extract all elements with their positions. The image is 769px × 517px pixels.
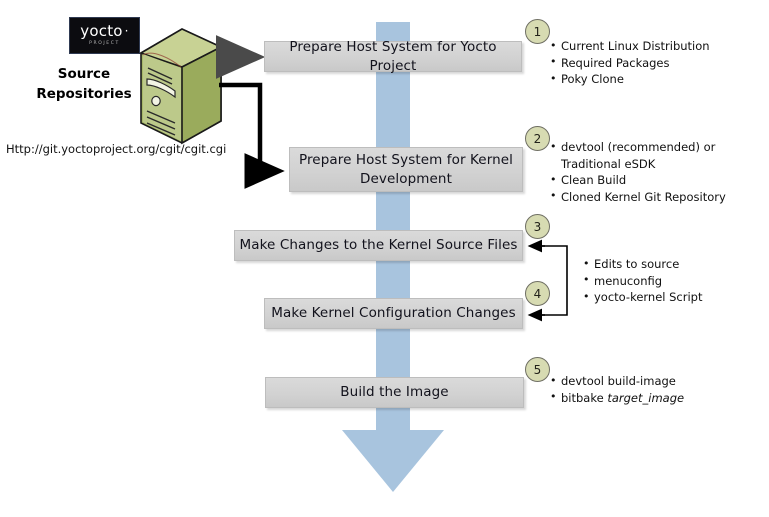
annotation-text: yocto-kernel Script: [594, 290, 703, 304]
process-box-2-line1: Prepare Host System for Kernel: [299, 152, 513, 168]
yocto-logo-dot: ·: [125, 24, 129, 38]
process-box-2-label: Prepare Host System for Kernel Developme…: [299, 151, 513, 189]
annotation-item: Cloned Kernel Git Repository: [549, 189, 761, 206]
annotation-text: Cloned Kernel Git Repository: [561, 190, 726, 204]
process-box-3-label: Make Changes to the Kernel Source Files: [239, 236, 517, 255]
step-number-1: 1: [534, 25, 542, 39]
annotation-text: menuconfig: [594, 274, 662, 288]
annotation-text-continuation: Traditional eSDK: [561, 156, 761, 173]
diagram-canvas: yocto· PROJECT Source Repositories Http:…: [0, 0, 769, 517]
annotation-item: devtool (recommended) or Traditional eSD…: [549, 139, 761, 172]
process-box-2-line2: Development: [360, 171, 452, 187]
annotation-list-steps-3-4: Edits to source menuconfig yocto-kernel …: [582, 256, 762, 306]
process-box-build-image[interactable]: Build the Image: [265, 377, 524, 408]
process-box-1-label: Prepare Host System for Yocto Project: [265, 38, 521, 76]
process-box-make-source-changes[interactable]: Make Changes to the Kernel Source Files: [234, 230, 523, 261]
annotation-item: Required Packages: [549, 55, 764, 72]
step-number-4: 4: [534, 287, 542, 301]
server-tower-icon: [137, 27, 223, 145]
step-number-circle-2: 2: [525, 126, 550, 151]
annotation-text: bitbake: [561, 391, 607, 405]
vertical-flow-band: [376, 22, 410, 432]
annotation-text: devtool build-image: [561, 374, 676, 388]
source-label-line2: Repositories: [24, 84, 144, 104]
annotation-text: Required Packages: [561, 56, 670, 70]
annotation-text: Current Linux Distribution: [561, 39, 710, 53]
annotation-text: Clean Build: [561, 173, 626, 187]
annotation-item: Clean Build: [549, 172, 761, 189]
process-box-5-label: Build the Image: [340, 383, 448, 402]
yocto-project-logo: yocto· PROJECT: [69, 17, 140, 54]
step-number-5: 5: [534, 363, 542, 377]
annotation-text: Poky Clone: [561, 72, 624, 86]
yocto-logo-word-text: yocto: [80, 22, 122, 40]
yocto-logo-subtext: PROJECT: [89, 40, 120, 47]
flow-arrowhead-icon: [342, 430, 444, 492]
annotation-item: Poky Clone: [549, 71, 764, 88]
annotation-item: Current Linux Distribution: [549, 38, 764, 55]
source-repositories-label: Source Repositories: [24, 64, 144, 104]
annotation-item: yocto-kernel Script: [582, 289, 762, 306]
annotation-item: Edits to source: [582, 256, 762, 273]
annotation-item: bitbake target_image: [549, 390, 761, 407]
annotation-text: Edits to source: [594, 257, 679, 271]
step-number-circle-5: 5: [525, 357, 550, 382]
step-number-circle-3: 3: [525, 214, 550, 239]
step-number-2: 2: [534, 132, 542, 146]
step-number-circle-4: 4: [525, 281, 550, 306]
process-box-prepare-host-kernel[interactable]: Prepare Host System for Kernel Developme…: [289, 147, 523, 192]
annotation-list-step-1: Current Linux Distribution Required Pack…: [549, 38, 764, 88]
annotation-item: devtool build-image: [549, 373, 761, 390]
annotation-list-step-2: devtool (recommended) or Traditional eSD…: [549, 139, 761, 205]
annotation-list-step-5: devtool build-image bitbake target_image: [549, 373, 761, 406]
yocto-logo-wordmark: yocto·: [80, 24, 128, 39]
step-number-3: 3: [534, 220, 542, 234]
annotation-item: menuconfig: [582, 273, 762, 290]
process-box-prepare-host-yocto[interactable]: Prepare Host System for Yocto Project: [264, 41, 522, 72]
annotation-text-italic: target_image: [607, 391, 684, 405]
process-box-make-config-changes[interactable]: Make Kernel Configuration Changes: [264, 298, 523, 329]
process-box-4-label: Make Kernel Configuration Changes: [271, 304, 515, 323]
annotation-text: devtool (recommended) or: [561, 140, 715, 154]
source-label-line1: Source: [24, 64, 144, 84]
step-number-circle-1: 1: [525, 19, 550, 44]
